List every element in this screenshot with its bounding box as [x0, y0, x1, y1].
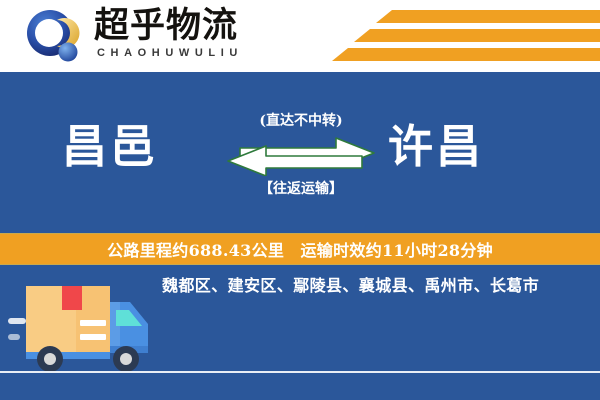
delivery-truck-icon	[8, 274, 160, 379]
direct-service-label: (直达不中转)	[216, 110, 386, 130]
speed-stripe-middle	[370, 29, 600, 42]
roundtrip-service-label: 【往返运输】	[216, 178, 386, 198]
brand-name-en: CHAOHUWULIU	[97, 47, 243, 59]
double-headed-arrow-icon	[224, 132, 378, 181]
coverage-districts-text: 魏都区、建安区、鄢陵县、襄城县、禹州市、长葛市	[162, 275, 590, 297]
banner-body: 昌邑 (直达不中转) 【往返运输】 许昌 公路里程约688.43公里 运输时效约…	[0, 72, 600, 400]
route-arrow-group: (直达不中转) 【往返运输】	[216, 110, 386, 210]
route-hero: 昌邑 (直达不中转) 【往返运输】 许昌	[0, 72, 600, 233]
logistics-route-banner: 超乎物流 CHAOHUWULIU 昌邑 (直达不中转) 【往返运输】	[0, 0, 600, 400]
banner-header: 超乎物流 CHAOHUWULIU	[0, 0, 600, 72]
route-info-bar: 公路里程约688.43公里 运输时效约11小时28分钟	[0, 233, 600, 265]
circle-crescent-logo-icon	[24, 8, 82, 66]
speed-stripe-bottom	[348, 48, 600, 61]
origin-city: 昌邑	[62, 120, 158, 174]
distance-duration-text: 公路里程约688.43公里 运输时效约11小时28分钟	[107, 237, 493, 261]
brand-name-cn: 超乎物流	[94, 6, 238, 46]
ground-divider-line	[0, 371, 600, 373]
speed-stripe-top	[392, 10, 600, 23]
destination-city: 许昌	[388, 120, 484, 174]
